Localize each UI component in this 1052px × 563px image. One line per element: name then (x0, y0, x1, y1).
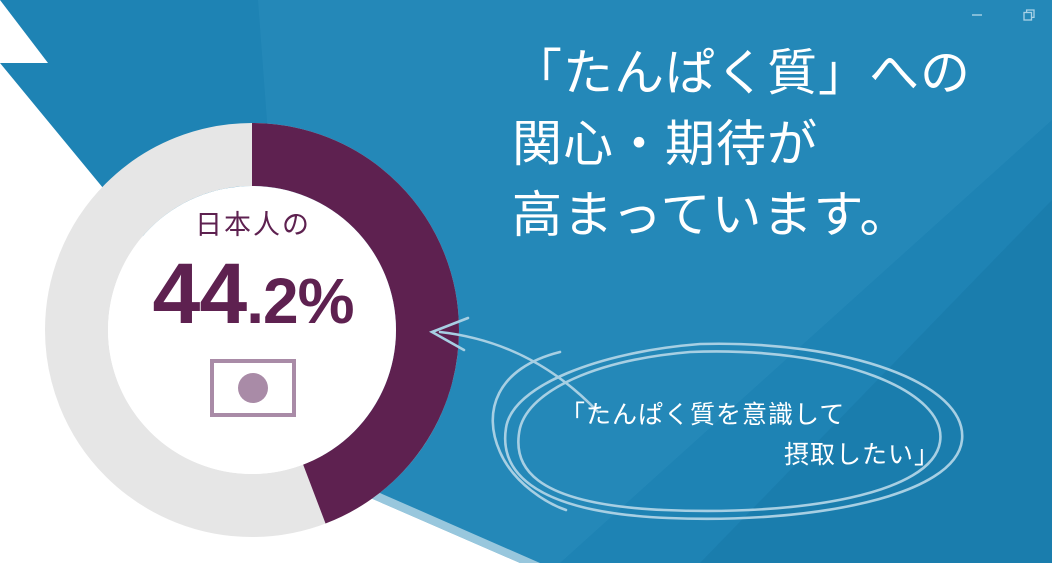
japan-flag-icon (210, 359, 296, 417)
donut-value-fraction: .2% (246, 269, 353, 333)
donut-value-integer: 44 (153, 251, 247, 337)
quote-block: 「たんぱく質を意識して 摂取したい」 (560, 396, 940, 475)
restore-button[interactable] (1016, 4, 1042, 26)
minimize-button[interactable] (964, 4, 990, 26)
donut-label: 日本人の (195, 212, 311, 239)
donut-value: 44 .2% (153, 251, 354, 337)
headline-line-1: 「たんぱく質」への (512, 38, 1032, 109)
headline: 「たんぱく質」への 関心・期待が 高まっています。 (512, 38, 1032, 251)
quote-line-1: 「たんぱく質を意識して (560, 396, 940, 436)
donut-center-content: 日本人の 44 .2% (108, 196, 398, 456)
japan-flag-disc (238, 373, 268, 403)
headline-line-2: 関心・期待が (512, 109, 1032, 180)
slide-canvas: 日本人の 44 .2% 「たんぱく質」への 関心・期待が 高まっています。 「た… (0, 0, 1052, 563)
quote-line-2: 摂取したい」 (560, 436, 940, 476)
restore-icon (1021, 7, 1037, 23)
minimize-icon (969, 7, 985, 23)
window-controls (964, 4, 1042, 26)
headline-line-3: 高まっています。 (512, 180, 1032, 251)
